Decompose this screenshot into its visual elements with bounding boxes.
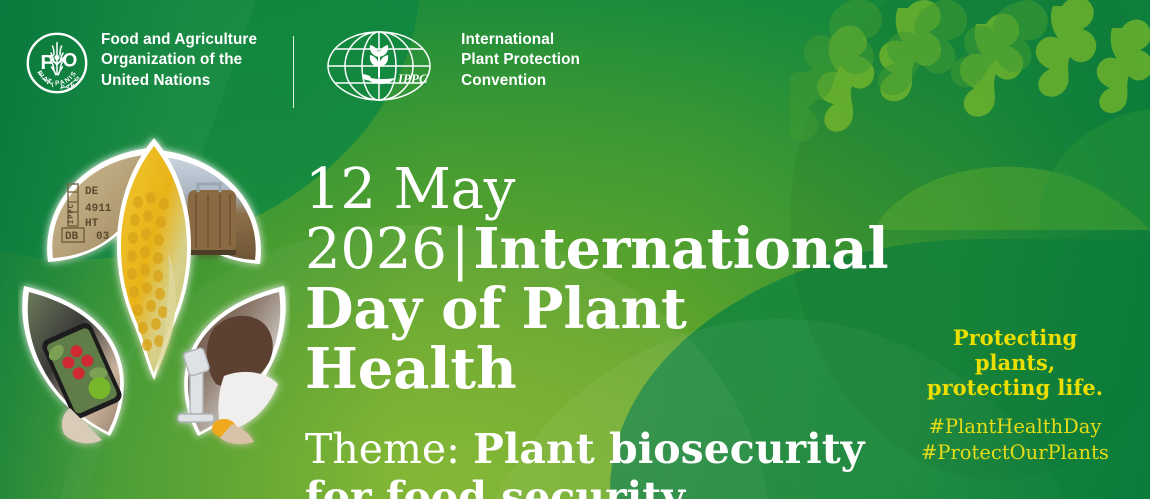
- theme-label: Theme:: [305, 425, 460, 473]
- svg-text:DE: DE: [85, 186, 99, 198]
- logo-header: F O: [26, 30, 580, 108]
- collage-petal-phone: [22, 286, 124, 443]
- page-title: 12 May 2026|International Day of Plant H…: [305, 160, 905, 400]
- leaf-petal-photo-collage: DE 4911 HT DB 03 IPPC: [18, 132, 290, 462]
- fao-logo-text: Food and Agriculture Organization of the…: [101, 30, 257, 91]
- svg-text:HT: HT: [85, 218, 99, 230]
- main-copy: 12 May 2026|International Day of Plant H…: [305, 160, 905, 499]
- ippc-logo-text: International Plant Protection Conventio…: [461, 30, 580, 91]
- hashtag-plant-health-day[interactable]: #PlantHealthDay: [910, 414, 1120, 439]
- collage-petal-microscope: [178, 286, 286, 444]
- svg-text:DB: DB: [65, 231, 79, 243]
- ippc-globe-plant-icon: IPPC: [326, 30, 432, 102]
- fao-emblem-icon: F O: [26, 32, 88, 94]
- ippc-logo[interactable]: IPPC International Plant Protection Conv…: [326, 30, 580, 102]
- slogan-block: Protecting plants, protecting life. #Pla…: [910, 326, 1120, 465]
- logo-divider: [293, 36, 294, 108]
- svg-text:4911: 4911: [85, 203, 112, 215]
- svg-text:03: 03: [96, 231, 110, 243]
- plant-health-day-banner: F O: [0, 0, 1150, 499]
- tagline-line-1: Protecting plants,: [910, 326, 1120, 376]
- svg-text:IPPC: IPPC: [68, 203, 76, 224]
- hashtag-list: #PlantHealthDay #ProtectOurPlants: [910, 414, 1120, 465]
- svg-text:O: O: [63, 51, 78, 72]
- tagline: Protecting plants, protecting life.: [910, 326, 1120, 400]
- theme-line: Theme: Plant biosecurity for food securi…: [305, 426, 905, 499]
- ippc-acronym: IPPC: [397, 71, 428, 86]
- tagline-line-2: protecting life.: [910, 376, 1120, 401]
- svg-text:F: F: [41, 52, 53, 74]
- title-separator: |: [447, 217, 474, 282]
- hashtag-protect-our-plants[interactable]: #ProtectOurPlants: [910, 440, 1120, 465]
- fao-logo[interactable]: F O: [26, 30, 257, 94]
